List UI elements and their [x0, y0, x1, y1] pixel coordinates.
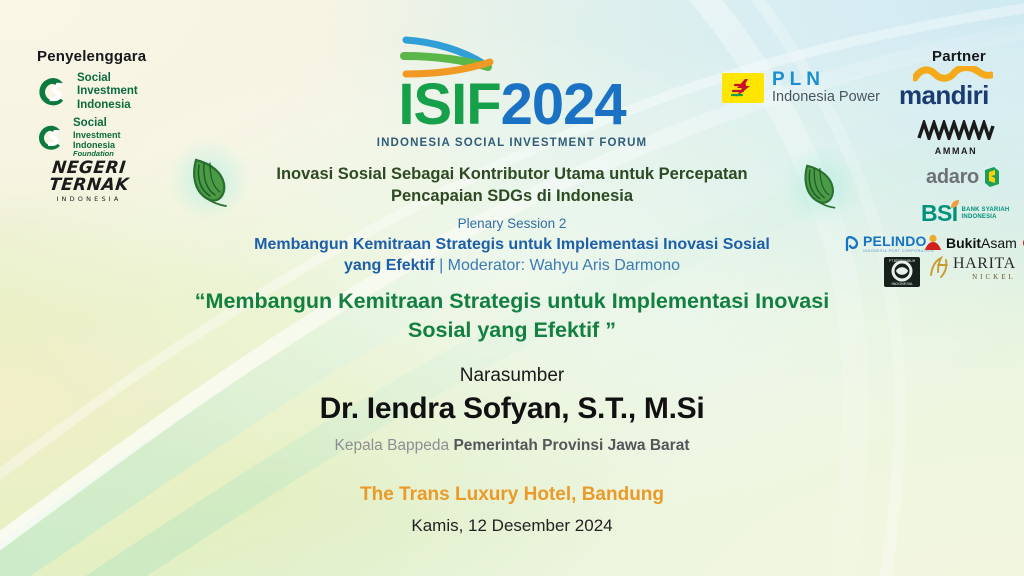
event-venue: The Trans Luxury Hotel, Bandung	[0, 484, 1024, 506]
sii-line3: Indonesia	[77, 99, 138, 112]
session-title-line2-bold: yang Efektif	[344, 257, 435, 274]
speaker-label: Narasumber	[0, 365, 1024, 387]
logo-social-investment-indonesia-foundation: Social Investment Indonesia Foundation	[36, 117, 121, 158]
speaker-role: Kepala Bappeda	[335, 437, 454, 454]
logo-social-investment-indonesia: Social Investment Indonesia	[36, 72, 138, 112]
sii-line1: Social	[77, 72, 138, 85]
pln-lightning-icon	[722, 73, 764, 103]
sii-line2: Investment	[77, 85, 138, 98]
session-separator: |	[435, 257, 448, 274]
bsi-sub1: BANK SYARIAH	[962, 207, 1010, 214]
siif-mark-icon	[36, 123, 66, 153]
amman-zigzag-icon	[917, 120, 995, 140]
event-theme-line2: Pencapaian SDGs di Indonesia	[0, 185, 1024, 207]
session-label: Plenary Session 2	[0, 216, 1024, 231]
event-theme-line1: Inovasi Sosial Sebagai Kontributor Utama…	[0, 163, 1024, 185]
siif-line1: Social	[73, 117, 121, 130]
mandiri-name: mandiri	[899, 82, 993, 108]
presentation-slide: Penyelenggara Social Investment Indonesi…	[0, 0, 1024, 576]
siif-line2: Investment	[73, 130, 121, 140]
speaker-organization: Pemerintah Provinsi Jawa Barat	[453, 437, 689, 454]
gapki-label: INDONESIA	[892, 282, 913, 286]
amman-name: AMMAN	[917, 146, 995, 156]
logo-amman: AMMAN	[917, 120, 995, 156]
pln-subtitle: Indonesia Power	[772, 90, 880, 105]
pln-name: PLN	[772, 70, 880, 89]
speaker-name: Dr. Iendra Sofyan, S.T., M.Si	[0, 392, 1024, 426]
session-title-line2: yang Efektif | Moderator: Wahyu Aris Dar…	[0, 256, 1024, 277]
speaker-affiliation: Kepala Bappeda Pemerintah Provinsi Jawa …	[0, 437, 1024, 455]
logo-bank-mandiri: mandiri	[899, 66, 993, 108]
isif-tagline: INDONESIA SOCIAL INVESTMENT FORUM	[362, 137, 662, 149]
logo-pln-indonesia-power: PLN Indonesia Power	[722, 70, 880, 105]
session-quote-line1: “Membangun Kemitraan Strategis untuk Imp…	[0, 287, 1024, 316]
partner-section-title: Partner	[932, 48, 986, 65]
session-quote: “Membangun Kemitraan Strategis untuk Imp…	[0, 287, 1024, 344]
session-quote-line2: Sosial yang Efektif ”	[0, 316, 1024, 345]
siif-sub: Foundation	[73, 150, 121, 158]
event-date: Kamis, 12 Desember 2024	[0, 516, 1024, 536]
isif-logo: ISIF 2024 INDONESIA SOCIAL INVESTMENT FO…	[362, 36, 662, 149]
session-title-line1: Membangun Kemitraan Strategis untuk Impl…	[0, 235, 1024, 256]
sii-mark-icon	[36, 75, 70, 109]
isif-name-blue: 2024	[501, 76, 626, 134]
isif-name-green: ISIF	[398, 76, 500, 134]
session-moderator: Moderator: Wahyu Aris Darmono	[448, 257, 680, 274]
organizer-section-title: Penyelenggara	[37, 48, 146, 65]
event-theme: Inovasi Sosial Sebagai Kontributor Utama…	[0, 163, 1024, 207]
